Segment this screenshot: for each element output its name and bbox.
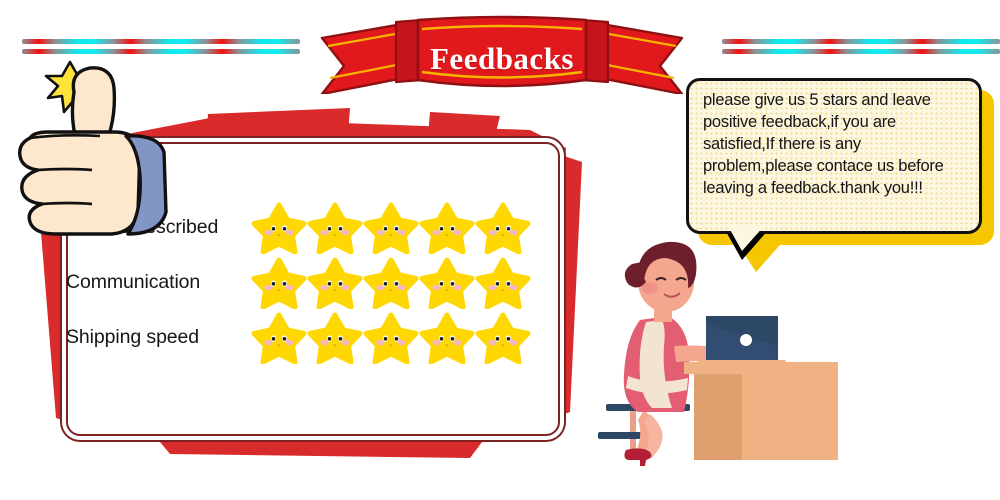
star-icon[interactable]: [307, 312, 363, 364]
stripe-line: [722, 49, 1000, 54]
desk-front-right: [742, 374, 838, 460]
rating-label-shipping-speed: Shipping speed: [66, 326, 251, 349]
banner-ribbon: Feedbacks: [318, 2, 686, 94]
star-icon[interactable]: [363, 202, 419, 254]
star-icon[interactable]: [475, 312, 531, 364]
page-title: Feedbacks: [318, 2, 686, 94]
stripe-line: [22, 39, 300, 44]
star-icon[interactable]: [363, 257, 419, 309]
rating-row: Communication: [66, 255, 566, 310]
star-rating-shipping-speed[interactable]: [251, 312, 531, 364]
feedback-banner-page: Feedbacks Item as described: [0, 0, 1000, 500]
star-icon[interactable]: [251, 202, 307, 254]
laptop-base: [698, 360, 786, 365]
star-icon[interactable]: [475, 257, 531, 309]
star-icon[interactable]: [419, 312, 475, 364]
star-rating-item-as-described[interactable]: [251, 202, 531, 254]
thumbs-up-icon: [8, 52, 178, 242]
star-icon[interactable]: [419, 202, 475, 254]
star-icon[interactable]: [307, 257, 363, 309]
star-icon[interactable]: [419, 257, 475, 309]
star-icon[interactable]: [307, 202, 363, 254]
bubble-surface: please give us 5 stars and leave positiv…: [686, 78, 982, 234]
star-icon[interactable]: [251, 312, 307, 364]
star-rating-communication[interactable]: [251, 257, 531, 309]
desk-front-left: [694, 374, 742, 460]
woman-at-desk-illustration: [588, 228, 838, 468]
bubble-message-text: please give us 5 stars and leave positiv…: [703, 90, 967, 200]
star-icon[interactable]: [363, 312, 419, 364]
rating-label-communication: Communication: [66, 271, 251, 294]
star-icon[interactable]: [475, 202, 531, 254]
rating-row: Shipping speed: [66, 310, 566, 365]
decorative-stripe-bar-right: [722, 39, 1000, 54]
stripe-line: [722, 39, 1000, 44]
star-icon[interactable]: [251, 257, 307, 309]
